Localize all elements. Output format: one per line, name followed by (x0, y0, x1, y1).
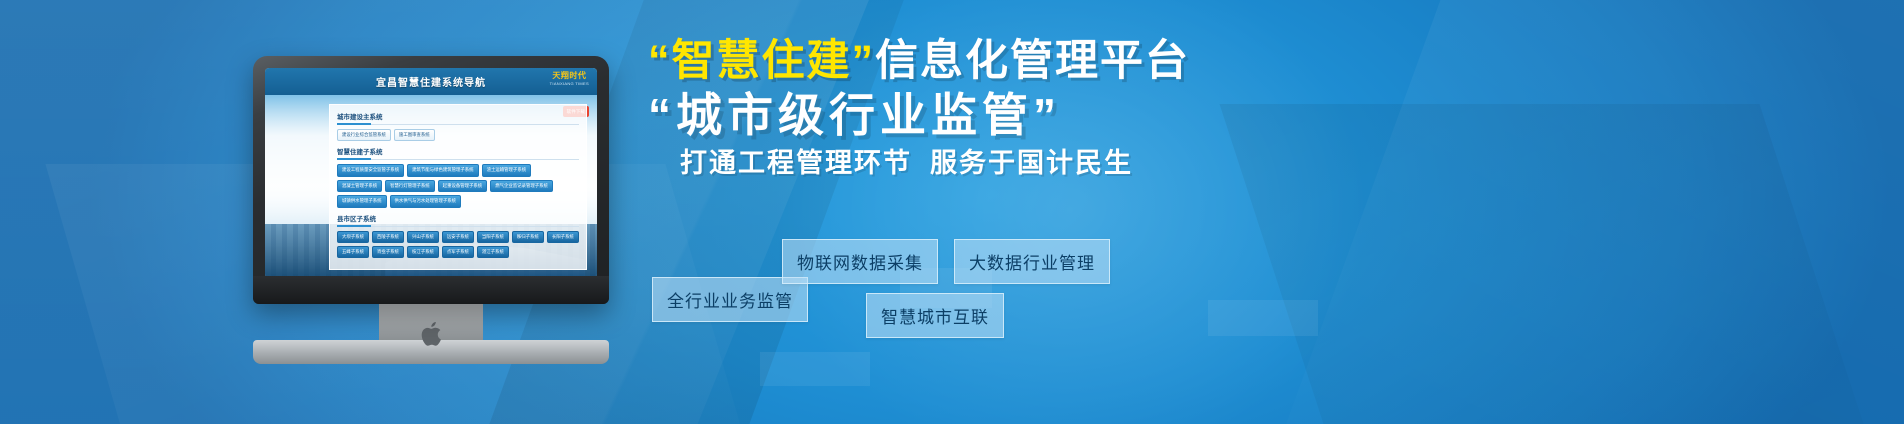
screen-chip[interactable]: 起重设备管理子系统 (438, 180, 488, 192)
feature-tag-smart-city-connectivity[interactable]: 智慧城市互联 (866, 293, 1004, 338)
brand-name-cn: 天翔时代 (550, 72, 589, 80)
screen-chip[interactable]: 远安子系统 (442, 231, 474, 243)
screen-chip[interactable]: 建筑节能与绿色建筑管理子系统 (407, 164, 478, 176)
screen-chip[interactable]: 秭归子系统 (512, 231, 544, 243)
feature-tag-big-data-management[interactable]: 大数据行业管理 (954, 239, 1110, 284)
screen-chip[interactable]: 点军子系统 (442, 246, 474, 258)
monitor-chin (253, 276, 609, 304)
screen-chip[interactable]: 五峰子系统 (337, 246, 369, 258)
screen-chip[interactable]: 长阳子系统 (547, 231, 579, 243)
decorative-ghost-box (1208, 300, 1318, 336)
screen-chip[interactable]: 湛江子系统 (477, 246, 509, 258)
screen-group-title: 智慧住建子系统 (337, 146, 579, 160)
screen-chip[interactable]: 渣土运输管理子系统 (482, 164, 532, 176)
screen-chip[interactable]: 混凝土管理子系统 (337, 180, 382, 192)
headline-line-1: “智慧住建”信息化管理平台 (648, 40, 1348, 83)
screen-chip[interactable]: 智慧行灯管理子系统 (385, 180, 435, 192)
headline-highlight-text: “智慧住建” (648, 37, 875, 85)
headline-line-1-rest: 信息化管理平台 (875, 37, 1190, 85)
monitor-display: 宜昌智慧住建系统导航 天翔时代 TIANXIANG TIMES 软件下载 城市建… (265, 68, 597, 278)
screen-content-panel: 城市建设主系统 建设行业综合监管系统 施工图审查系统 智慧住建子系统 建设工程质… (329, 104, 587, 270)
screen-header-bar: 宜昌智慧住建系统导航 天翔时代 TIANXIANG TIMES (265, 68, 597, 95)
screen-chip[interactable]: 大坝子系统 (337, 231, 369, 243)
screen-chip[interactable]: 当阳子系统 (477, 231, 509, 243)
screen-header-title: 宜昌智慧住建系统导航 (376, 74, 486, 89)
headline-block: “智慧住建”信息化管理平台 “城市级行业监管” 打通工程管理环节服务于国计民生 (648, 40, 1348, 177)
promo-banner: 宜昌智慧住建系统导航 天翔时代 TIANXIANG TIMES 软件下载 城市建… (0, 0, 1904, 424)
screen-group-2: 县市区子系统 大坝子系统 西陵子系统 兴山子系统 远安子系统 当阳子系统 秭归子… (337, 213, 579, 259)
tagline-part-2: 服务于国计民生 (930, 148, 1133, 178)
screen-group-chip-list: 建设行业综合监管系统 施工图审查系统 (337, 129, 579, 141)
headline-line-3: 打通工程管理环节服务于国计民生 (680, 150, 1348, 177)
feature-tag-iot-data-collection[interactable]: 物联网数据采集 (782, 239, 938, 284)
decorative-ghost-box (760, 352, 870, 386)
screen-chip[interactable]: 西陵子系统 (372, 231, 404, 243)
system-navigation-screen: 宜昌智慧住建系统导航 天翔时代 TIANXIANG TIMES 软件下载 城市建… (265, 68, 597, 278)
monitor-bezel: 宜昌智慧住建系统导航 天翔时代 TIANXIANG TIMES 软件下载 城市建… (253, 56, 609, 304)
screen-group-1: 智慧住建子系统 建设工程质量安全监管子系统 建筑节能与绿色建筑管理子系统 渣土运… (337, 146, 579, 207)
screen-chip[interactable]: 燃气企业监记录管理子系统 (490, 180, 553, 192)
tagline-part-1: 打通工程管理环节 (680, 148, 912, 178)
screen-chip[interactable]: 兴山子系统 (407, 231, 439, 243)
screen-group-0: 城市建设主系统 建设行业综合监管系统 施工图审查系统 (337, 111, 579, 141)
screen-group-chip-list: 建设工程质量安全监管子系统 建筑节能与绿色建筑管理子系统 渣土运输管理子系统 混… (337, 164, 579, 207)
screen-chip[interactable]: 供水供气与污水处理管理子系统 (390, 195, 461, 207)
screen-chip[interactable]: 施工图审查系统 (394, 129, 435, 141)
screen-chip[interactable]: 城镇供水管理子系统 (337, 195, 387, 207)
screen-chip[interactable]: 枝江子系统 (407, 246, 439, 258)
screen-group-title: 县市区子系统 (337, 213, 579, 227)
headline-line-2: “城市级行业监管” (648, 92, 1348, 138)
monitor-mockup: 宜昌智慧住建系统导航 天翔时代 TIANXIANG TIMES 软件下载 城市建… (253, 56, 609, 304)
screen-brand-logo: 天翔时代 TIANXIANG TIMES (550, 72, 589, 86)
screen-chip[interactable]: 建设行业综合监管系统 (337, 129, 391, 141)
brand-name-en: TIANXIANG TIMES (550, 82, 589, 86)
screen-group-title: 城市建设主系统 (337, 111, 579, 125)
screen-chip[interactable]: 宵亟子系统 (372, 246, 404, 258)
apple-logo-icon (420, 322, 442, 348)
screen-group-chip-list: 大坝子系统 西陵子系统 兴山子系统 远安子系统 当阳子系统 秭归子系统 长阳子系… (337, 231, 579, 259)
screen-chip[interactable]: 建设工程质量安全监管子系统 (337, 164, 404, 176)
